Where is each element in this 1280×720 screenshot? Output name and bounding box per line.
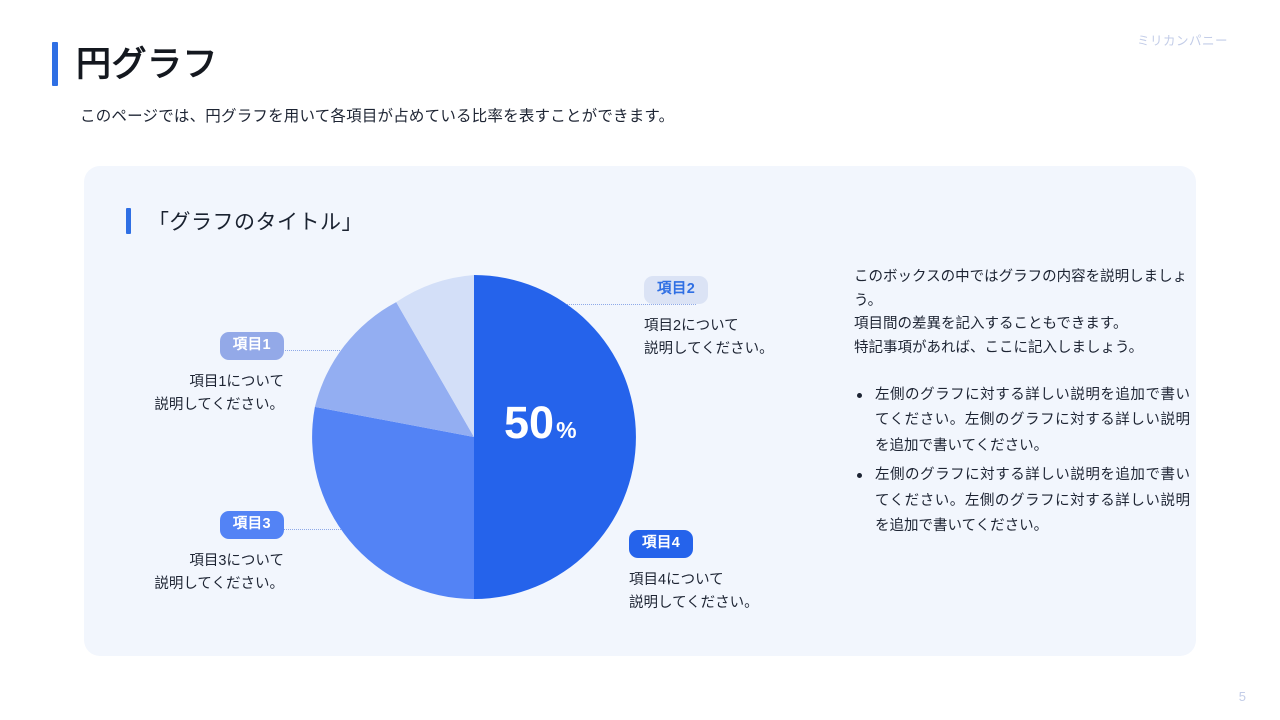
callout-item3-text: 項目3について 説明してください。 [104, 550, 284, 597]
pie-slice-item4[interactable] [474, 275, 636, 599]
pie-slice-item3[interactable] [312, 407, 474, 599]
list-item: 左側のグラフに対する詳しい説明を追加で書いてください。左側のグラフに対する詳しい… [854, 463, 1190, 540]
description-lead: このボックスの中ではグラフの内容を説明しましょう。 項目間の差異を記入することも… [854, 266, 1190, 361]
badge-item1[interactable]: 項目1 [220, 332, 284, 360]
page-subtitle: このページでは、円グラフを用いて各項目が占めている比率を表すことができます。 [80, 104, 674, 126]
badge-item4[interactable]: 項目4 [629, 530, 693, 558]
callout-item1: 項目1 項目1について 説明してください。 [104, 332, 284, 418]
description-panel: このボックスの中ではグラフの内容を説明しましょう。 項目間の差異を記入することも… [854, 266, 1190, 543]
callout-item2-text: 項目2について 説明してください。 [644, 315, 844, 362]
page-number: 5 [1239, 689, 1246, 704]
callout-item4: 項目4 項目4について 説明してください。 [629, 530, 829, 616]
title-accent-bar [52, 42, 58, 86]
callout-item3: 項目3 項目3について 説明してください。 [104, 511, 284, 597]
chart-area: 50 % 項目1 項目1について 説明してください。 項目2 項目2について 説… [84, 166, 1196, 656]
chart-card: 「グラフのタイトル」 50 % 項目1 [84, 166, 1196, 656]
list-item: 左側のグラフに対する詳しい説明を追加で書いてください。左側のグラフに対する詳しい… [854, 383, 1190, 460]
pie-chart: 50 % [309, 272, 639, 602]
badge-item3[interactable]: 項目3 [220, 511, 284, 539]
page-title-row: 円グラフ [52, 42, 218, 86]
brand-name: ミリカンパニー [1137, 30, 1228, 49]
description-bullet-list: 左側のグラフに対する詳しい説明を追加で書いてください。左側のグラフに対する詳しい… [854, 383, 1190, 541]
callout-item1-text: 項目1について 説明してください。 [104, 371, 284, 418]
pie-chart-svg [309, 272, 639, 602]
callout-item4-text: 項目4について 説明してください。 [629, 569, 829, 616]
badge-item2[interactable]: 項目2 [644, 276, 708, 304]
page-title: 円グラフ [76, 47, 218, 82]
callout-item2: 項目2 項目2について 説明してください。 [644, 276, 844, 362]
